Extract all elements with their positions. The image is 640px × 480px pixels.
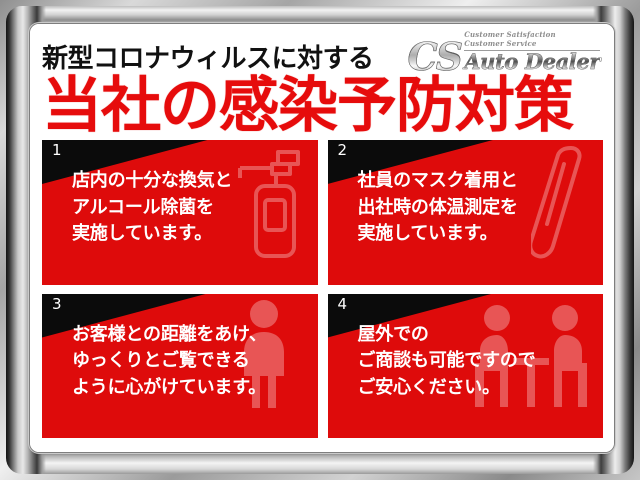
measure-panel-4: 4	[328, 294, 604, 439]
panel-body-text: 社員のマスク着用と 出社時の体温測定を 実施しています。	[328, 140, 604, 248]
kicker-text: 新型コロナウィルスに対する	[42, 46, 374, 74]
header-top-row: 新型コロナウィルスに対する CS Customer Satisfaction C…	[42, 28, 604, 74]
poster-header: 新型コロナウィルスに対する CS Customer Satisfaction C…	[30, 24, 614, 140]
cs-auto-dealer-logo: CS Customer Satisfaction Customer Servic…	[408, 31, 604, 74]
panel-body-text: 店内の十分な換気と アルコール除菌を 実施しています。	[42, 140, 318, 248]
panel-body-text: お客様との距離をあけ、 ゆっくりとご覧できる ように心がけています。	[42, 294, 318, 402]
panel-body-text: 屋外での ご商談も可能ですので ご安心ください。	[328, 294, 604, 402]
logo-right-block: Customer Satisfaction Customer Service A…	[464, 31, 600, 73]
measure-panel-3: 3 お客様との距離をあけ、 ゆっくりとご覧できる ように心がけています。	[42, 294, 318, 439]
logo-tagline-line2: Customer Service	[464, 40, 536, 49]
poster-canvas: 新型コロナウィルスに対する CS Customer Satisfaction C…	[30, 24, 614, 452]
logo-cs-mark: CS	[408, 41, 462, 73]
measures-grid: 1 店内の十分な換気と アルコール除菌を 実施しています。	[30, 140, 614, 452]
page-title: 当社の感染予防対策	[42, 76, 604, 136]
poster: 新型コロナウィルスに対する CS Customer Satisfaction C…	[0, 0, 640, 480]
metallic-frame-outer: 新型コロナウィルスに対する CS Customer Satisfaction C…	[6, 6, 634, 474]
measure-panel-2: 2 社員のマスク着用と 出社時の体温測定を 実施しています。	[328, 140, 604, 285]
measure-panel-1: 1 店内の十分な換気と アルコール除菌を 実施しています。	[42, 140, 318, 285]
logo-wordmark: Auto Dealer	[464, 51, 600, 73]
